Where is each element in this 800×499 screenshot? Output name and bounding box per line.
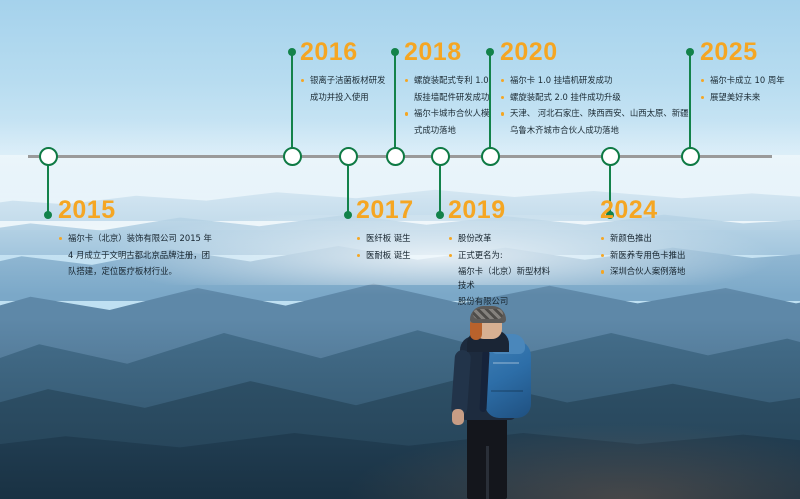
timeline-node-2016[interactable]	[283, 147, 302, 166]
milestone-year-2019: 2019	[448, 198, 556, 223]
milestone-bullet: 天津、 河北石家庄、陕西西安、山西太原、新疆	[500, 107, 690, 121]
milestone-bullets-2024: 新颜色推出新医养专用色卡推出深圳合伙人案例落地	[600, 232, 740, 279]
timeline-node-2024[interactable]	[601, 147, 620, 166]
milestone-2019[interactable]: 2019股份改革正式更名为:福尔卡（北京）新型材料技术股份有限公司	[448, 198, 556, 312]
timeline-node-2019[interactable]	[431, 147, 450, 166]
milestone-year-2024: 2024	[600, 198, 740, 223]
milestone-2018[interactable]: 2018螺旋装配式专利 1.0版挂墙配件研发成功福尔卡城市合伙人模式成功落地	[404, 40, 504, 140]
milestone-bullets-2025: 福尔卡成立 10 周年展望美好未来	[700, 74, 800, 104]
milestone-bullet: 正式更名为:	[448, 249, 556, 263]
hiker-backpack-highlight	[493, 362, 519, 364]
timeline-stem-cap-2015	[44, 211, 52, 219]
milestone-year-2015: 2015	[58, 198, 253, 223]
milestone-bullet: 展望美好未来	[700, 91, 800, 105]
timeline-stem-2017	[347, 160, 349, 215]
milestone-2020[interactable]: 2020福尔卡 1.0 挂墙机研发成功螺旋装配式 2.0 挂件成功升级天津、 河…	[500, 40, 690, 140]
milestone-2017[interactable]: 2017医纤板 诞生医耐板 诞生	[356, 198, 446, 265]
milestone-bullet: 螺旋装配式 2.0 挂件成功升级	[500, 91, 690, 105]
milestone-bullet: 银离子洁菌板材研发	[300, 74, 410, 88]
milestone-bullet: 医纤板 诞生	[356, 232, 446, 246]
milestone-bullet: 4 月成立于文明古都北京品牌注册，团	[58, 249, 253, 263]
milestone-bullet: 版挂墙配件研发成功	[404, 91, 504, 105]
milestone-bullet: 队搭建，定位医疗板材行业。	[58, 265, 253, 279]
milestone-2024[interactable]: 2024新颜色推出新医养专用色卡推出深圳合伙人案例落地	[600, 198, 740, 282]
milestone-bullet: 福尔卡城市合伙人模	[404, 107, 504, 121]
milestone-bullet: 医耐板 诞生	[356, 249, 446, 263]
timeline-node-2025[interactable]	[681, 147, 700, 166]
hiker-backpack-seam	[491, 390, 523, 392]
milestone-bullet: 乌鲁木齐城市合伙人成功落地	[500, 124, 690, 138]
milestone-bullet: 深圳合伙人案例落地	[600, 265, 740, 279]
milestone-bullet: 螺旋装配式专利 1.0	[404, 74, 504, 88]
milestone-bullet: 成功并投入使用	[300, 91, 410, 105]
milestone-year-2016: 2016	[300, 40, 410, 65]
milestone-bullet: 新医养专用色卡推出	[600, 249, 740, 263]
milestone-bullet: 股份改革	[448, 232, 556, 246]
hiker-leg-gap	[486, 446, 489, 499]
milestone-bullet: 福尔卡（北京）新型材料技术	[448, 265, 556, 292]
timeline-stem-2015	[47, 160, 49, 215]
milestone-year-2025: 2025	[700, 40, 800, 65]
milestone-bullet: 股份有限公司	[448, 295, 556, 309]
timeline-infographic: 2015福尔卡（北京）装饰有限公司 2015 年4 月成立于文明古都北京品牌注册…	[0, 0, 800, 499]
hiker-hand	[452, 409, 464, 425]
timeline-stem-2016	[291, 52, 293, 150]
milestone-2015[interactable]: 2015福尔卡（北京）装饰有限公司 2015 年4 月成立于文明古都北京品牌注册…	[58, 198, 253, 282]
milestone-bullets-2016: 银离子洁菌板材研发成功并投入使用	[300, 74, 410, 104]
timeline-node-2017[interactable]	[339, 147, 358, 166]
milestone-bullet: 式成功落地	[404, 124, 504, 138]
timeline-stem-cap-2017	[344, 211, 352, 219]
milestone-bullet: 福尔卡成立 10 周年	[700, 74, 800, 88]
milestone-2025[interactable]: 2025福尔卡成立 10 周年展望美好未来	[700, 40, 800, 107]
milestone-bullets-2017: 医纤板 诞生医耐板 诞生	[356, 232, 446, 262]
milestone-bullet: 福尔卡（北京）装饰有限公司 2015 年	[58, 232, 253, 246]
milestone-bullets-2015: 福尔卡（北京）装饰有限公司 2015 年4 月成立于文明古都北京品牌注册，团队搭…	[58, 232, 253, 279]
milestone-year-2018: 2018	[404, 40, 504, 65]
timeline-stem-cap-2016	[288, 48, 296, 56]
sunlit-slope-glow	[0, 379, 800, 499]
milestone-year-2020: 2020	[500, 40, 690, 65]
timeline-node-2020[interactable]	[481, 147, 500, 166]
timeline-node-2015[interactable]	[39, 147, 58, 166]
milestone-bullet: 新颜色推出	[600, 232, 740, 246]
milestone-year-2017: 2017	[356, 198, 446, 223]
hiker-figure	[437, 306, 557, 499]
milestone-bullets-2018: 螺旋装配式专利 1.0版挂墙配件研发成功福尔卡城市合伙人模式成功落地	[404, 74, 504, 137]
milestone-bullet: 福尔卡 1.0 挂墙机研发成功	[500, 74, 690, 88]
milestone-bullets-2020: 福尔卡 1.0 挂墙机研发成功螺旋装配式 2.0 挂件成功升级天津、 河北石家庄…	[500, 74, 690, 137]
milestone-2016[interactable]: 2016银离子洁菌板材研发成功并投入使用	[300, 40, 410, 107]
timeline-node-2018[interactable]	[386, 147, 405, 166]
milestone-bullets-2019: 股份改革正式更名为:福尔卡（北京）新型材料技术股份有限公司	[448, 232, 556, 309]
